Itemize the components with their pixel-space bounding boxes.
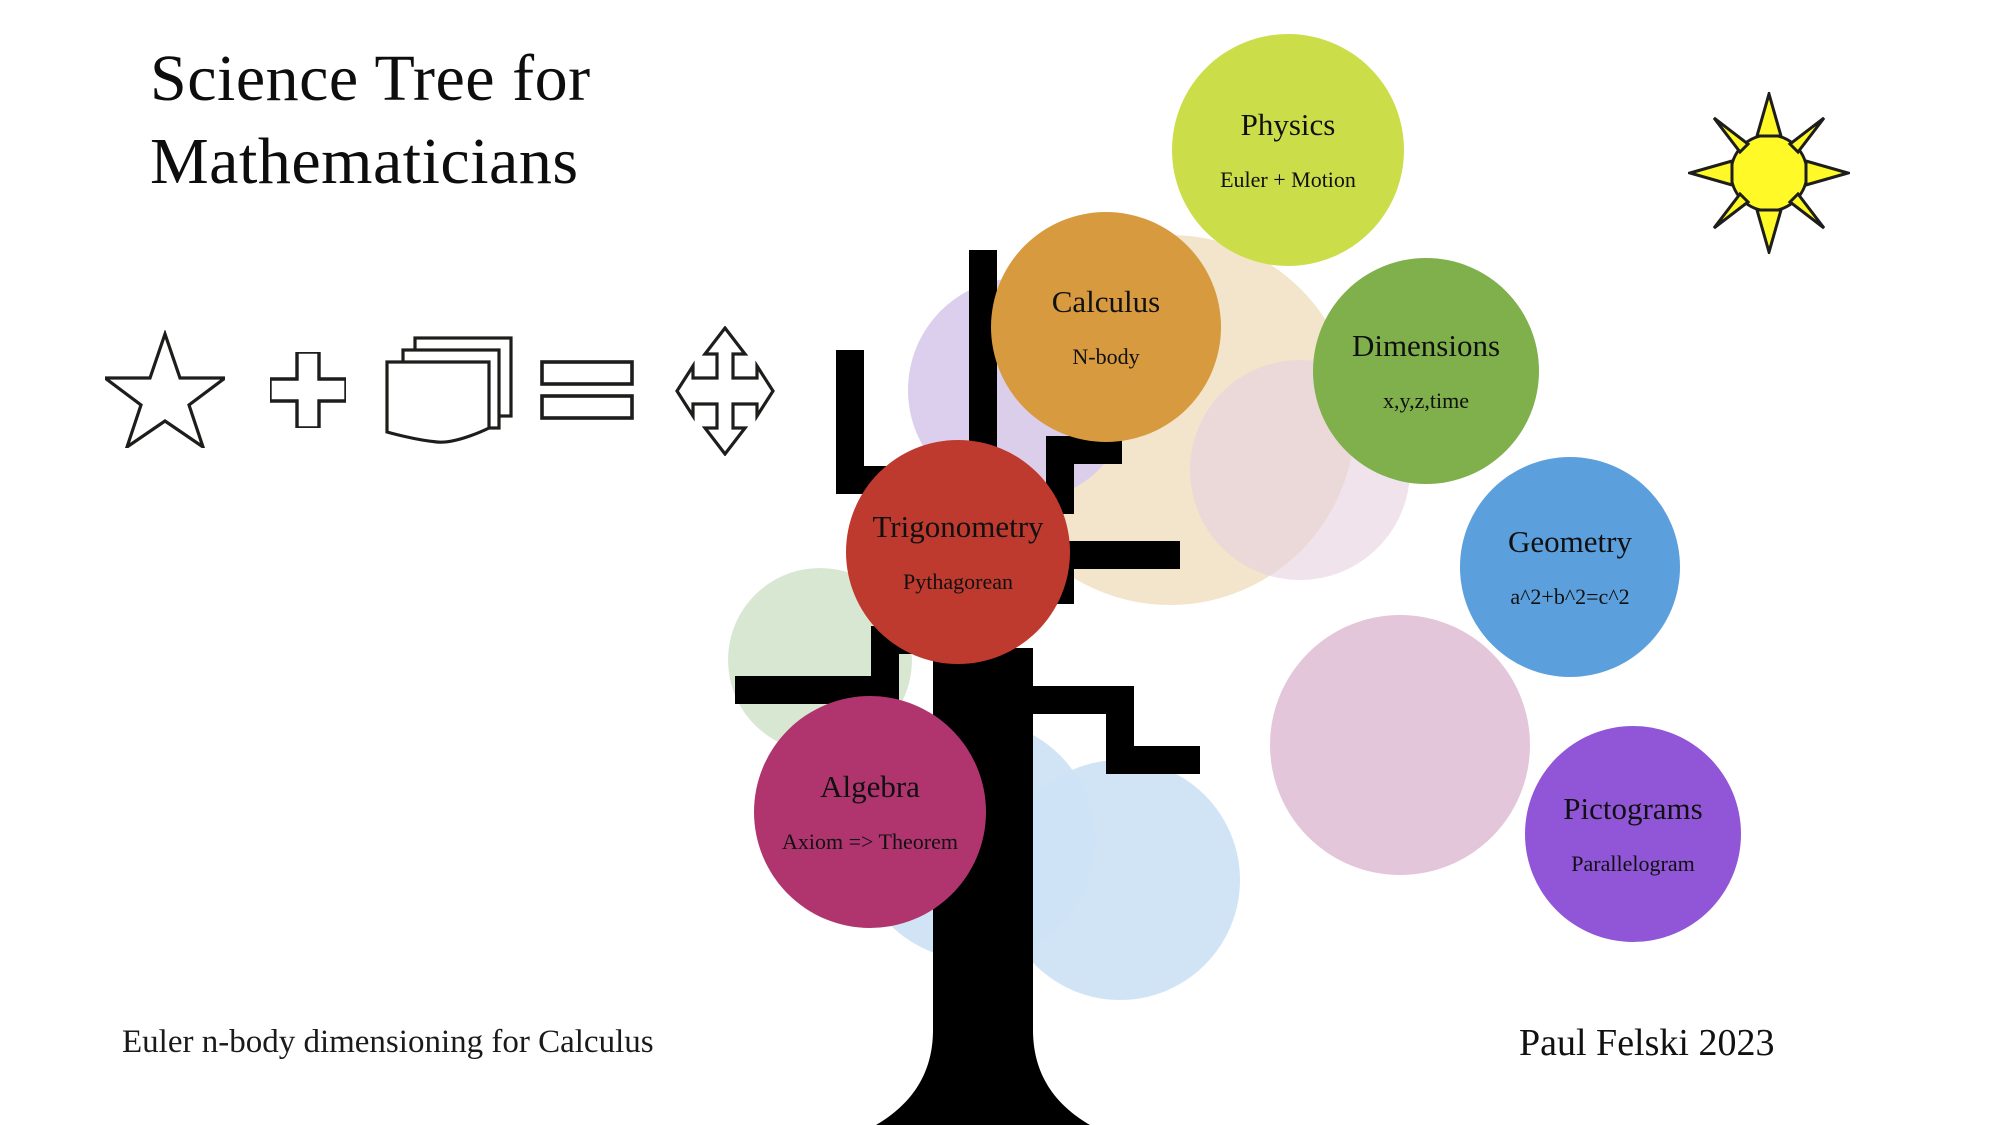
stacked-pages-icon (385, 336, 513, 446)
footer-credit: Paul Felski 2023 (1519, 1021, 1774, 1065)
bubble-calculus[interactable]: Calculus N-body (991, 212, 1221, 442)
bubble-subtitle: Pythagorean (903, 570, 1013, 594)
bubble-title: Trigonometry (872, 510, 1043, 544)
bubble-trigonometry[interactable]: Trigonometry Pythagorean (846, 440, 1070, 664)
bubble-subtitle: Euler + Motion (1220, 168, 1356, 192)
bubble-subtitle: Parallelogram (1571, 852, 1694, 876)
decorative-icon-row (105, 330, 785, 450)
page-title-line-1: Science Tree for (150, 38, 770, 121)
bubble-subtitle: Axiom => Theorem (782, 830, 958, 854)
bubble-subtitle: N-body (1072, 345, 1139, 369)
equals-icon (540, 360, 634, 422)
footer-caption-left: Euler n-body dimensioning for Calculus (122, 1024, 654, 1061)
bubble-title: Physics (1241, 108, 1336, 142)
page-title: Science Tree for Mathematicians (150, 38, 770, 203)
page-title-line-2: Mathematicians (150, 121, 770, 204)
bubble-pictograms[interactable]: Pictograms Parallelogram (1525, 726, 1741, 942)
bubble-geometry[interactable]: Geometry a^2+b^2=c^2 (1460, 457, 1680, 677)
bubble-subtitle: x,y,z,time (1383, 389, 1469, 413)
bubble-title: Algebra (820, 770, 920, 804)
bubble-dimensions[interactable]: Dimensions x,y,z,time (1313, 258, 1539, 484)
bubble-algebra[interactable]: Algebra Axiom => Theorem (754, 696, 986, 928)
slide-canvas: Science Tree for Mathematicians (0, 0, 2001, 1125)
bubble-subtitle: a^2+b^2=c^2 (1510, 585, 1629, 609)
plus-icon (270, 352, 346, 428)
bubble-physics[interactable]: Physics Euler + Motion (1172, 34, 1404, 266)
bubble-title: Calculus (1052, 285, 1161, 319)
star-icon (105, 330, 225, 448)
bubble-title: Geometry (1508, 525, 1632, 559)
bubble-title: Dimensions (1352, 329, 1500, 363)
bubble-title: Pictograms (1563, 792, 1703, 826)
